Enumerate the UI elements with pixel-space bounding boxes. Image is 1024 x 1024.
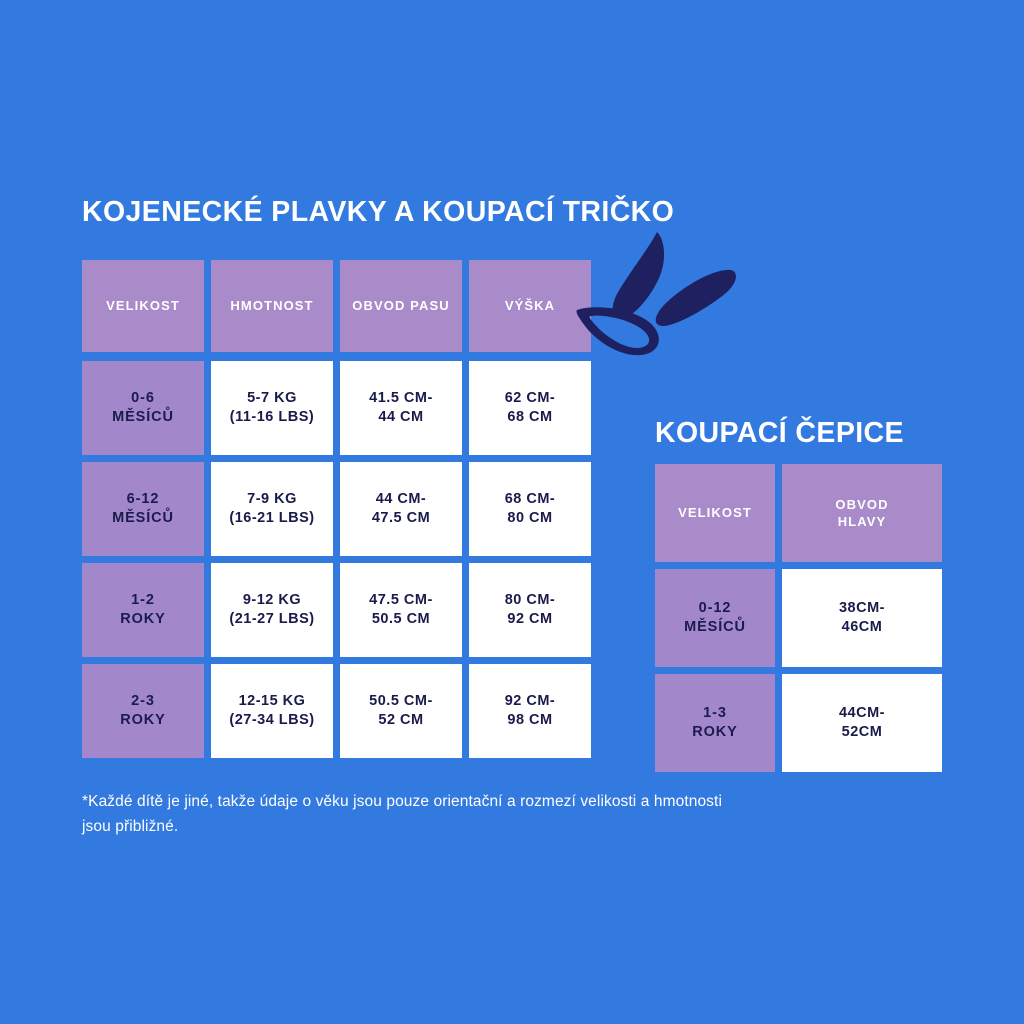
cell-line: 52CM bbox=[839, 723, 885, 742]
cell-line: ROKY bbox=[120, 711, 166, 730]
cell-line: 12-15 KG bbox=[229, 692, 314, 711]
cell-line: 2-3 bbox=[120, 692, 166, 711]
header-label: HMOTNOST bbox=[230, 297, 313, 314]
table-row-weight-cell: 12-15 KG (27-34 LBS) bbox=[211, 664, 333, 758]
header-label: VELIKOST bbox=[106, 297, 180, 314]
cell-line: 44 CM- bbox=[372, 490, 430, 509]
cell-line: 47.5 CM- bbox=[369, 591, 433, 610]
cap-chart-title: KOUPACÍ ČEPICE bbox=[655, 417, 904, 450]
table-row-height-cell: 80 CM- 92 CM bbox=[469, 563, 591, 657]
cell-line: ROKY bbox=[120, 610, 166, 629]
header-label: HLAVY bbox=[835, 513, 888, 530]
water-splash-icon bbox=[565, 222, 780, 362]
cell-line: 6-12 bbox=[112, 490, 174, 509]
cell-line: 38CM- bbox=[839, 599, 885, 618]
size-chart-infographic: { "swim_chart": { "title": "KOJENECKÉ PL… bbox=[0, 0, 1024, 1024]
header-label: VELIKOST bbox=[678, 504, 752, 521]
header-label: OBVOD bbox=[835, 496, 888, 513]
cell-line: 0-12 bbox=[684, 599, 746, 618]
table-row-size-cell: 1-3 ROKY bbox=[655, 674, 775, 772]
cell-line: 80 CM bbox=[505, 509, 556, 528]
cell-line: 68 CM- bbox=[505, 490, 556, 509]
cell-line: ROKY bbox=[692, 723, 738, 742]
cell-line: 80 CM- bbox=[505, 591, 556, 610]
table-row-head-cell: 44CM- 52CM bbox=[782, 674, 942, 772]
table-row-size-cell: 0-12 MĚSÍCŮ bbox=[655, 569, 775, 667]
table-row-height-cell: 92 CM- 98 CM bbox=[469, 664, 591, 758]
cell-line: 47.5 CM bbox=[372, 509, 430, 528]
table-row-weight-cell: 5-7 KG (11-16 LBS) bbox=[211, 361, 333, 455]
table-row-height-cell: 62 CM- 68 CM bbox=[469, 361, 591, 455]
cell-line: 92 CM- bbox=[505, 692, 556, 711]
column-header-velikost: VELIKOST bbox=[655, 464, 775, 562]
cell-line: (21-27 LBS) bbox=[229, 610, 314, 629]
table-row-waist-cell: 41.5 CM- 44 CM bbox=[340, 361, 462, 455]
cell-line: 44 CM bbox=[369, 408, 433, 427]
cell-line: 52 CM bbox=[369, 711, 433, 730]
cell-line: (27-34 LBS) bbox=[229, 711, 314, 730]
cell-line: 62 CM- bbox=[505, 389, 556, 408]
column-header-velikost: VELIKOST bbox=[82, 260, 204, 352]
cell-line: (16-21 LBS) bbox=[229, 509, 314, 528]
table-row-size-cell: 6-12 MĚSÍCŮ bbox=[82, 462, 204, 556]
footnote-disclaimer: *Každé dítě je jiné, takže údaje o věku … bbox=[82, 789, 722, 839]
header-label: OBVOD PASU bbox=[352, 297, 449, 314]
cell-line: 92 CM bbox=[505, 610, 556, 629]
table-row-waist-cell: 47.5 CM- 50.5 CM bbox=[340, 563, 462, 657]
cell-line: 50.5 CM bbox=[369, 610, 433, 629]
table-row-size-cell: 1-2 ROKY bbox=[82, 563, 204, 657]
cell-line: MĚSÍCŮ bbox=[112, 509, 174, 528]
cell-line: 44CM- bbox=[839, 704, 885, 723]
table-row-waist-cell: 44 CM- 47.5 CM bbox=[340, 462, 462, 556]
cell-line: 7-9 KG bbox=[229, 490, 314, 509]
cell-line: 46CM bbox=[839, 618, 885, 637]
table-row-height-cell: 68 CM- 80 CM bbox=[469, 462, 591, 556]
cell-line: 68 CM bbox=[505, 408, 556, 427]
cell-line: MĚSÍCŮ bbox=[112, 408, 174, 427]
cell-line: 5-7 KG bbox=[230, 389, 314, 408]
table-row-weight-cell: 7-9 KG (16-21 LBS) bbox=[211, 462, 333, 556]
header-label: VÝŠKA bbox=[505, 297, 555, 314]
cell-line: 1-3 bbox=[692, 704, 738, 723]
column-header-hmotnost: HMOTNOST bbox=[211, 260, 333, 352]
cell-line: 98 CM bbox=[505, 711, 556, 730]
cell-line: (11-16 LBS) bbox=[230, 408, 314, 427]
table-row-waist-cell: 50.5 CM- 52 CM bbox=[340, 664, 462, 758]
column-header-obvod-pasu: OBVOD PASU bbox=[340, 260, 462, 352]
table-row-size-cell: 2-3 ROKY bbox=[82, 664, 204, 758]
table-row-weight-cell: 9-12 KG (21-27 LBS) bbox=[211, 563, 333, 657]
swimwear-size-table: VELIKOST HMOTNOST OBVOD PASU VÝŠKA 0-6 M… bbox=[82, 260, 591, 758]
cell-line: 0-6 bbox=[112, 389, 174, 408]
cell-line: 41.5 CM- bbox=[369, 389, 433, 408]
swimwear-chart-title: KOJENECKÉ PLAVKY A KOUPACÍ TRIČKO bbox=[82, 196, 674, 229]
cap-size-table: VELIKOST OBVOD HLAVY 0-12 MĚSÍCŮ 38CM- 4… bbox=[655, 464, 942, 772]
cell-line: 9-12 KG bbox=[229, 591, 314, 610]
table-row-head-cell: 38CM- 46CM bbox=[782, 569, 942, 667]
table-row-size-cell: 0-6 MĚSÍCŮ bbox=[82, 361, 204, 455]
cell-line: 1-2 bbox=[120, 591, 166, 610]
cell-line: 50.5 CM- bbox=[369, 692, 433, 711]
column-header-vyska: VÝŠKA bbox=[469, 260, 591, 352]
cell-line: MĚSÍCŮ bbox=[684, 618, 746, 637]
column-header-obvod-hlavy: OBVOD HLAVY bbox=[782, 464, 942, 562]
